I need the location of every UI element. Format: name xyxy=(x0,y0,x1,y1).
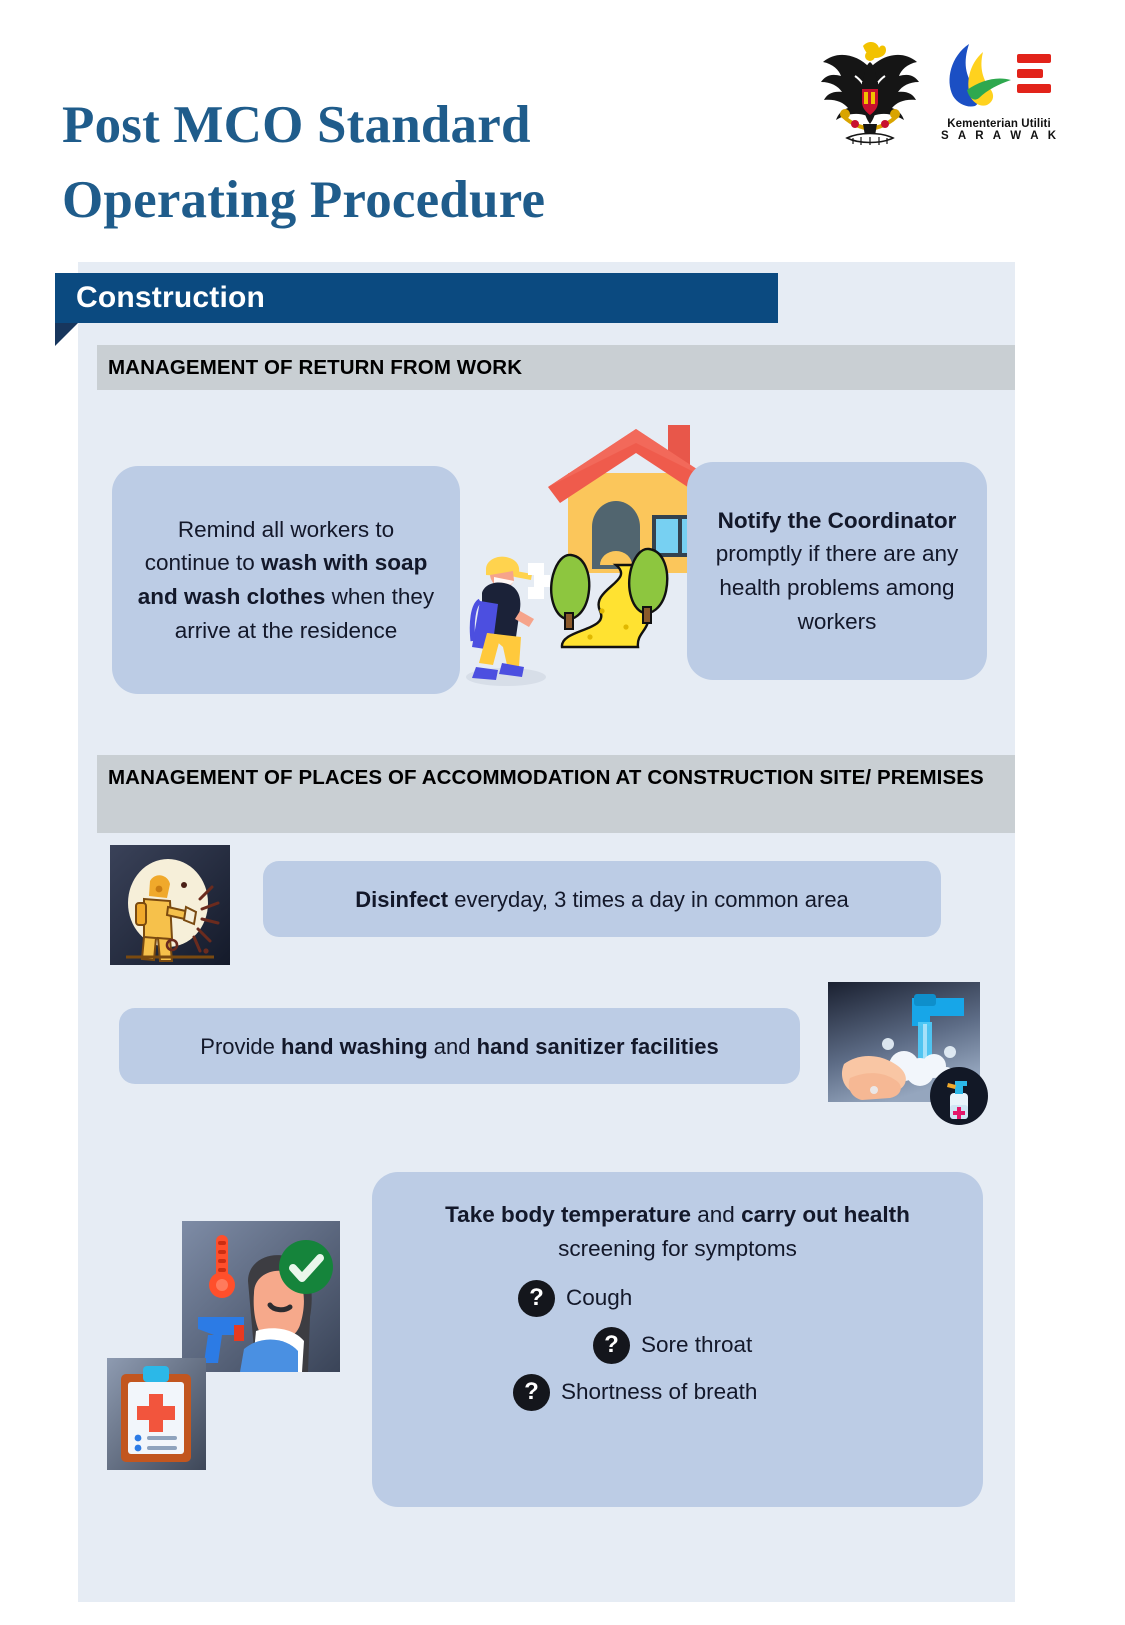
question-mark-icon: ? xyxy=(593,1327,630,1364)
card-notify-text: Notify the Coordinator promptly if there… xyxy=(709,504,965,639)
card-handwash-text: Provide hand washing and hand sanitizer … xyxy=(200,1030,718,1063)
logo-group: Kementerian Utiliti S A R A W A K xyxy=(815,32,1065,162)
sarawak-crest-icon xyxy=(815,32,925,150)
page-title: Post MCO Standard Operating Procedure xyxy=(62,88,682,239)
ministry-flame-icon xyxy=(941,32,1057,112)
banner-fold-decoration xyxy=(55,323,78,346)
card-health-screening: Take body temperature and carry out heal… xyxy=(372,1172,983,1507)
list-item: ? Sore throat xyxy=(593,1327,959,1364)
infographic-page: Post MCO Standard Operating Procedure xyxy=(0,0,1125,1625)
card-remind-wash: Remind all workers to continue to wash w… xyxy=(112,466,460,694)
section-heading-accommodation: MANAGEMENT OF PLACES OF ACCOMMODATION AT… xyxy=(97,755,1015,833)
construction-banner-label: Construction xyxy=(55,273,778,323)
page-title-line-2: Operating Procedure xyxy=(62,163,682,238)
worker-spraying-disinfectant-image xyxy=(110,845,230,965)
question-mark-icon: ? xyxy=(518,1280,555,1317)
card-disinfect-text: Disinfect everyday, 3 times a day in com… xyxy=(355,883,849,916)
symptom-label: Cough xyxy=(566,1281,632,1315)
list-item: ? Cough xyxy=(518,1280,959,1317)
ministry-logo: Kementerian Utiliti S A R A W A K xyxy=(941,32,1057,154)
construction-banner: Construction xyxy=(55,273,785,323)
card-disinfect: Disinfect everyday, 3 times a day in com… xyxy=(263,861,941,937)
page-header: Post MCO Standard Operating Procedure xyxy=(0,0,1125,250)
list-item: ? Shortness of breath xyxy=(513,1374,959,1411)
ministry-name-line-1: Kementerian Utiliti xyxy=(941,118,1057,130)
card-hand-washing: Provide hand washing and hand sanitizer … xyxy=(119,1008,800,1084)
card-remind-text: Remind all workers to continue to wash w… xyxy=(134,513,438,648)
symptom-list: ? Cough ? Sore throat ? Shortness of bre… xyxy=(396,1280,959,1411)
hand-sanitizer-bottle-badge xyxy=(930,1067,988,1125)
question-mark-icon: ? xyxy=(513,1374,550,1411)
medical-clipboard-icon xyxy=(107,1358,206,1470)
page-title-line-1: Post MCO Standard xyxy=(62,88,682,163)
section-heading-return-from-work: MANAGEMENT OF RETURN FROM WORK xyxy=(97,345,1015,390)
thermal-scan-masked-person-image xyxy=(182,1221,340,1372)
ministry-name-line-2: S A R A W A K xyxy=(941,130,1057,142)
symptom-label: Sore throat xyxy=(641,1328,752,1362)
card-screening-text: Take body temperature and carry out heal… xyxy=(396,1198,959,1266)
symptom-label: Shortness of breath xyxy=(561,1375,757,1409)
card-notify-coordinator: Notify the Coordinator promptly if there… xyxy=(687,462,987,680)
